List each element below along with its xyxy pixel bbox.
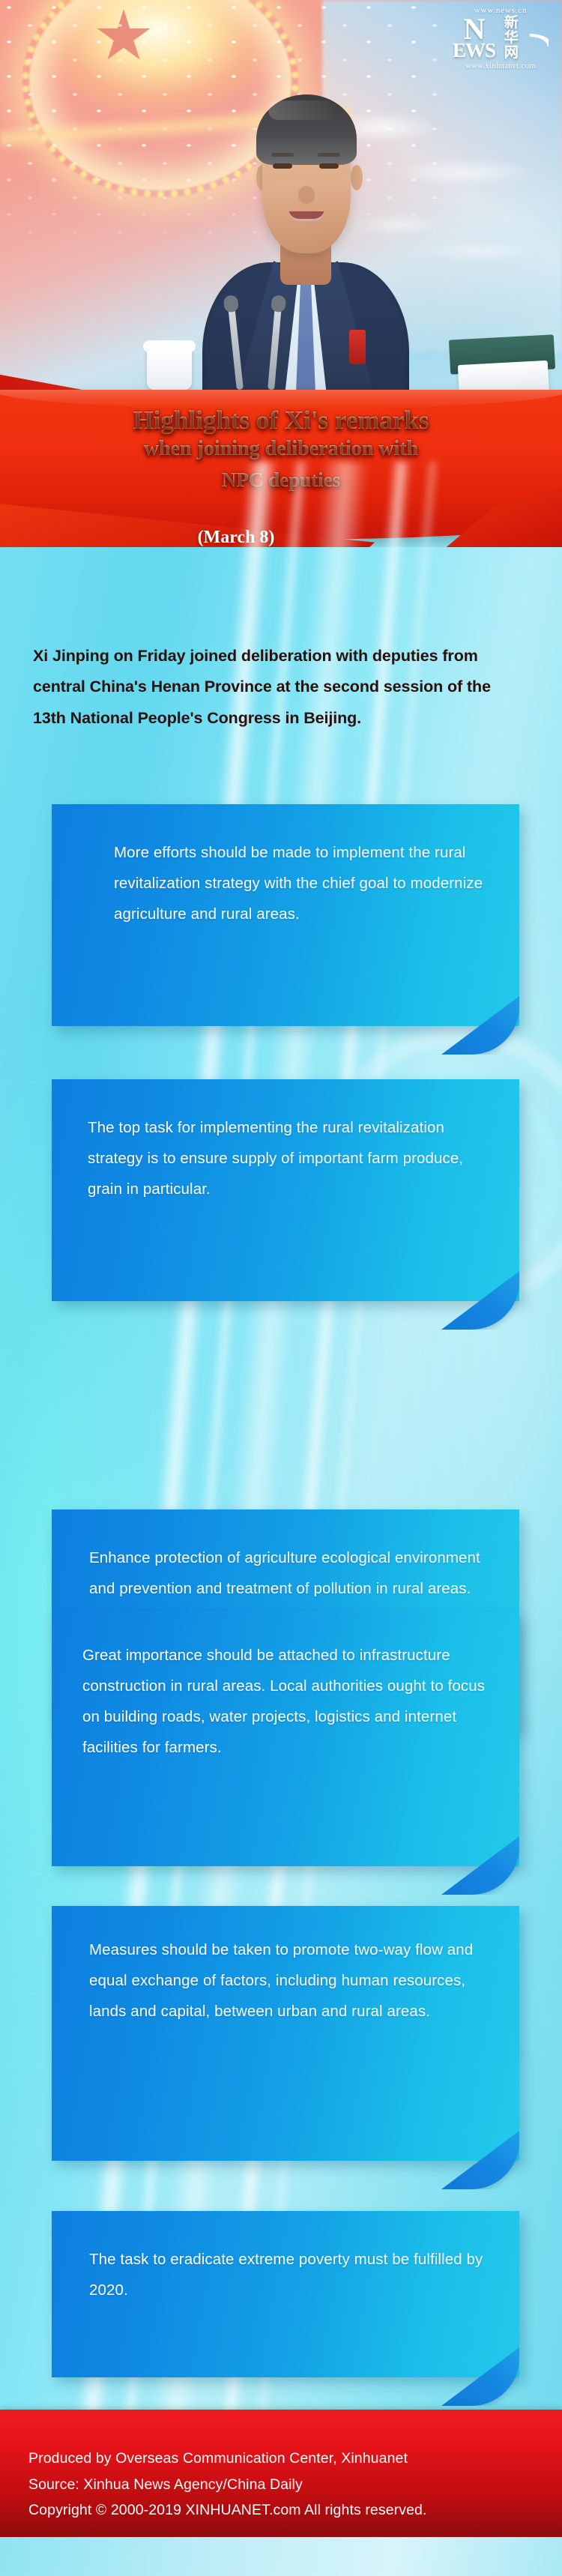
footer-producer: Produced by Overseas Communication Cente… bbox=[28, 2446, 562, 2472]
quote-text-4: Great importance should be attached to i… bbox=[52, 1611, 519, 1763]
page-title: Highlights of Xi's remarks when joining … bbox=[0, 406, 562, 495]
footer-credits: Produced by Overseas Communication Cente… bbox=[0, 2410, 562, 2524]
portrait-brow-right bbox=[318, 153, 340, 157]
title-line-1: Highlights of Xi's remarks bbox=[0, 406, 562, 434]
logo-letters: N EWS bbox=[453, 16, 495, 60]
logo-letter-n: N bbox=[453, 16, 495, 42]
quote-card-5: Measures should be taken to promote two-… bbox=[52, 1906, 519, 2161]
footer-copyright: Copyright © 2000-2019 XINHUANET.com All … bbox=[28, 2497, 562, 2524]
logo-url-bottom: www.xinhuanet.com bbox=[453, 62, 549, 70]
quote-text-2: The top task for implementing the rural … bbox=[52, 1079, 519, 1204]
portrait-eye-right bbox=[319, 163, 339, 169]
portrait-brow-left bbox=[271, 153, 294, 157]
portrait-nose bbox=[298, 186, 315, 204]
footer-spacer bbox=[0, 2537, 562, 2576]
quote-card-2: The top task for implementing the rural … bbox=[52, 1079, 519, 1301]
portrait-mouth bbox=[289, 211, 324, 221]
quote-card-6: The task to eradicate extreme poverty mu… bbox=[52, 2211, 519, 2377]
quote-text-6: The task to eradicate extreme poverty mu… bbox=[52, 2211, 519, 2305]
quote-card-4: Great importance should be attached to i… bbox=[52, 1611, 519, 1866]
logo-mark: N EWS 新华网 bbox=[453, 16, 549, 61]
quote-text-3: Enhance protection of agriculture ecolog… bbox=[52, 1509, 519, 1604]
logo-swoosh-icon bbox=[530, 30, 549, 46]
xinhua-logo[interactable]: www.news.cn N EWS 新华网 www.xinhuanet.com bbox=[453, 6, 549, 75]
delegate-badge bbox=[349, 330, 366, 364]
footer-source: Source: Xinhua News Agency/China Daily bbox=[28, 2472, 562, 2498]
portrait-ear-right bbox=[351, 165, 363, 190]
logo-chinese-name: 新华网 bbox=[498, 16, 526, 61]
infographic-page: www.news.cn N EWS 新华网 www.xinhuanet.com … bbox=[0, 0, 562, 2576]
quote-text-1: More efforts should be made to implement… bbox=[52, 804, 519, 929]
footer-bar: Produced by Overseas Communication Cente… bbox=[0, 2410, 562, 2537]
logo-letters-ews: EWS bbox=[453, 42, 495, 59]
title-line-3: NPC deputies bbox=[0, 465, 562, 495]
portrait-eye-left bbox=[273, 163, 292, 169]
title-date: (March 8) bbox=[0, 528, 562, 548]
title-line-2: when joining deliberation with bbox=[0, 434, 562, 465]
intro-paragraph: Xi Jinping on Friday joined deliberation… bbox=[33, 641, 528, 734]
tea-cup-lid bbox=[143, 340, 196, 352]
quote-text-5: Measures should be taken to promote two-… bbox=[52, 1906, 519, 2027]
quote-card-1: More efforts should be made to implement… bbox=[52, 804, 519, 1026]
